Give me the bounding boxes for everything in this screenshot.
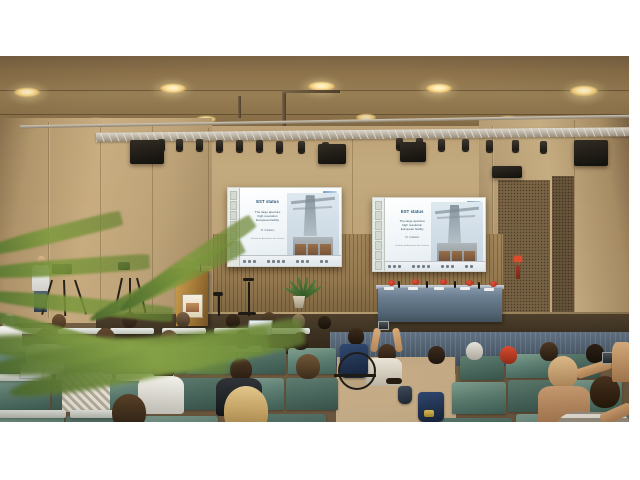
downlight-icon — [426, 84, 452, 93]
fire-extinguisher-icon — [516, 266, 520, 279]
stage-plant — [280, 254, 324, 298]
laptop[interactable] — [19, 364, 45, 379]
loudspeaker-icon — [400, 142, 426, 162]
attendee-torso — [0, 326, 22, 348]
slide-thumbnail — [230, 201, 237, 210]
toolbar-icon[interactable] — [446, 265, 449, 268]
slide-thumbnail — [375, 221, 382, 230]
conference-photograph: EST status The large aperture high resol… — [0, 56, 629, 422]
tripod-leg — [129, 278, 131, 314]
slide-thumbnail — [230, 231, 237, 240]
slide-thumbnail — [375, 231, 382, 240]
auditorium-seat[interactable] — [142, 416, 218, 422]
wall-panel-seam — [208, 128, 209, 312]
table-microphone-icon — [478, 282, 480, 289]
wall-panel-seam — [100, 124, 101, 316]
presentation-toolbar[interactable] — [385, 261, 485, 271]
flower-arrangement — [412, 279, 419, 285]
loudspeaker-icon — [130, 140, 164, 164]
auditorium-seat[interactable] — [460, 356, 504, 380]
toolbar-icon[interactable] — [412, 265, 415, 268]
attendee-head — [226, 314, 240, 328]
writing-desk — [104, 346, 154, 352]
laptop[interactable] — [247, 320, 273, 335]
slide-thumbnail — [375, 201, 382, 210]
wall-panel-seam — [352, 132, 353, 236]
attendee-head — [176, 312, 190, 327]
stage-spotlight-icon — [512, 140, 519, 152]
attendee-head — [112, 394, 146, 422]
presenter-head — [184, 256, 195, 269]
flower-arrangement — [388, 280, 395, 286]
stage-spotlight-icon — [438, 139, 445, 151]
flower-arrangement — [440, 279, 447, 285]
slide-subtitle-line: European facility — [391, 228, 433, 232]
slide-thumbnail — [375, 241, 382, 250]
attendee-head — [122, 312, 137, 328]
shoe — [386, 378, 402, 384]
tripod-leg — [63, 280, 66, 316]
attendee-head — [234, 330, 252, 349]
toolbar-icon[interactable] — [253, 260, 256, 263]
toolbar-icon[interactable] — [393, 265, 396, 268]
attendee-torso — [62, 372, 110, 412]
camera-icon[interactable] — [378, 321, 389, 330]
attendee-head — [548, 356, 578, 388]
auditorium-seat[interactable] — [286, 378, 338, 410]
microphone-stand — [218, 294, 220, 316]
slide-thumbnail — [375, 261, 382, 270]
slide-thumbnail-rail — [228, 188, 240, 266]
presentation-view: EST status The large aperture high resol… — [373, 198, 485, 271]
ceiling-conduit — [282, 90, 340, 93]
slide-thumbnail — [230, 241, 237, 250]
slide-thumbnail — [230, 191, 237, 200]
flower-arrangement — [490, 281, 497, 287]
slide-thumbnail — [375, 211, 382, 220]
slide-affiliation: Instituto de Astrofisica de Canarias — [246, 238, 288, 241]
slide-subtitle: The large aperture high resolution Europ… — [246, 211, 288, 223]
backpack-logo-icon — [424, 410, 434, 417]
attendee-head — [500, 346, 517, 364]
stage-spotlight-icon — [486, 140, 493, 152]
table-microphone-icon — [426, 281, 428, 288]
toolbar-icon[interactable] — [388, 265, 391, 268]
attendee-head — [292, 314, 305, 328]
slide-affiliation: Instituto de Astrofisica de Canarias — [391, 245, 433, 248]
attendee-head — [96, 328, 115, 348]
slide-subtitle: The large aperture high resolution Europ… — [391, 220, 433, 232]
toolbar-icon[interactable] — [272, 260, 275, 263]
wheelchair-wheel — [338, 352, 376, 390]
downlight-icon — [570, 86, 598, 96]
slide-author: M. Collados — [246, 229, 288, 232]
videographer-body — [32, 265, 49, 291]
attendee-head — [318, 316, 331, 329]
ceiling-seam — [0, 114, 629, 115]
writing-desk — [110, 328, 154, 334]
emergency-sign-icon — [514, 256, 522, 262]
current-slide: EST status The large aperture high resol… — [385, 198, 485, 271]
slide-thumbnail-rail — [373, 198, 385, 271]
slide-thumbnail — [230, 251, 237, 260]
slide-thumbnail — [230, 211, 237, 220]
table-microphone-icon — [454, 281, 456, 288]
auditorium-seat[interactable] — [440, 418, 512, 422]
microphone-base — [238, 312, 256, 315]
attendee-head — [348, 328, 364, 345]
toolbar-icon[interactable] — [398, 265, 401, 268]
right-projection-screen: EST status The large aperture high resol… — [372, 197, 486, 272]
videographer-head — [37, 256, 46, 266]
loudspeaker-icon — [318, 144, 346, 164]
slide-title: EST status — [391, 210, 433, 215]
floor-backpack — [398, 386, 412, 404]
downlight-icon — [160, 84, 186, 93]
wheelchair-frame — [334, 374, 376, 377]
auditorium-seat[interactable] — [0, 378, 50, 410]
toolbar-icon[interactable] — [465, 265, 468, 268]
microphone-stand — [248, 282, 250, 316]
telescope-crate — [464, 251, 474, 261]
loudspeaker-icon — [492, 166, 522, 178]
stage-spotlight-icon — [540, 141, 547, 153]
telescope-crate — [452, 251, 462, 261]
slide-title: EST status — [246, 200, 288, 205]
camera-tripod — [50, 270, 80, 316]
nameplate — [408, 287, 418, 290]
perforated-mesh-panel — [498, 180, 550, 320]
photo-page: EST status The large aperture high resol… — [0, 0, 640, 480]
table-microphone-icon — [398, 281, 400, 288]
slide-thumbnail — [230, 221, 237, 230]
toolbar-icon[interactable] — [427, 265, 430, 268]
auditorium-seat[interactable] — [452, 382, 506, 414]
nameplate — [384, 287, 394, 290]
downlight-icon — [14, 88, 40, 97]
stage-spotlight-icon — [196, 139, 203, 151]
stage-spotlight-icon — [236, 140, 243, 152]
attendee-head — [428, 346, 445, 364]
stage-spotlight-icon — [176, 139, 183, 151]
slide-illustration — [287, 193, 339, 259]
toolbar-icon[interactable] — [325, 260, 328, 263]
attendee-head — [466, 342, 483, 360]
attendee-head — [296, 354, 320, 379]
toolbar-icon[interactable] — [248, 260, 251, 263]
microphone-head-icon — [243, 278, 254, 281]
ceiling-conduit — [238, 96, 241, 118]
toolbar-icon[interactable] — [451, 265, 454, 268]
stage-spotlight-icon — [298, 141, 305, 153]
lectern-microphone-icon — [200, 262, 201, 272]
nameplate — [484, 288, 494, 291]
slide-illustration — [431, 202, 483, 263]
attendee-head — [52, 314, 66, 329]
attendee-head — [160, 330, 178, 349]
flower-arrangement — [466, 280, 473, 286]
attendee-head — [292, 332, 309, 350]
writing-desk — [0, 410, 66, 418]
panel-table — [378, 288, 502, 322]
toolbar-icon[interactable] — [417, 265, 420, 268]
toolbar-icon[interactable] — [470, 265, 473, 268]
nameplate — [460, 287, 470, 290]
toolbar-icon[interactable] — [422, 265, 425, 268]
toolbar-icon[interactable] — [243, 260, 246, 263]
stage-spotlight-icon — [216, 140, 223, 152]
stage-spotlight-icon — [256, 140, 263, 152]
nameplate — [434, 287, 444, 290]
toolbar-icon[interactable] — [267, 260, 270, 263]
slide-author: M. Collados — [391, 236, 433, 239]
microphone-head-icon — [213, 292, 223, 296]
telescope-crate — [439, 251, 449, 261]
floor-backpack — [418, 392, 444, 422]
slide-subtitle-line: European facility — [246, 219, 288, 223]
attendee-torso — [612, 342, 629, 382]
camera-tripod — [120, 268, 138, 314]
perforated-mesh-panel — [552, 176, 574, 326]
loudspeaker-icon — [574, 140, 608, 166]
stage-spotlight-icon — [276, 141, 283, 153]
slide-thumbnail — [375, 251, 382, 260]
video-camera-icon — [118, 262, 130, 270]
writing-desk — [58, 328, 102, 334]
toolbar-icon[interactable] — [441, 265, 444, 268]
stage-spotlight-icon — [462, 139, 469, 151]
